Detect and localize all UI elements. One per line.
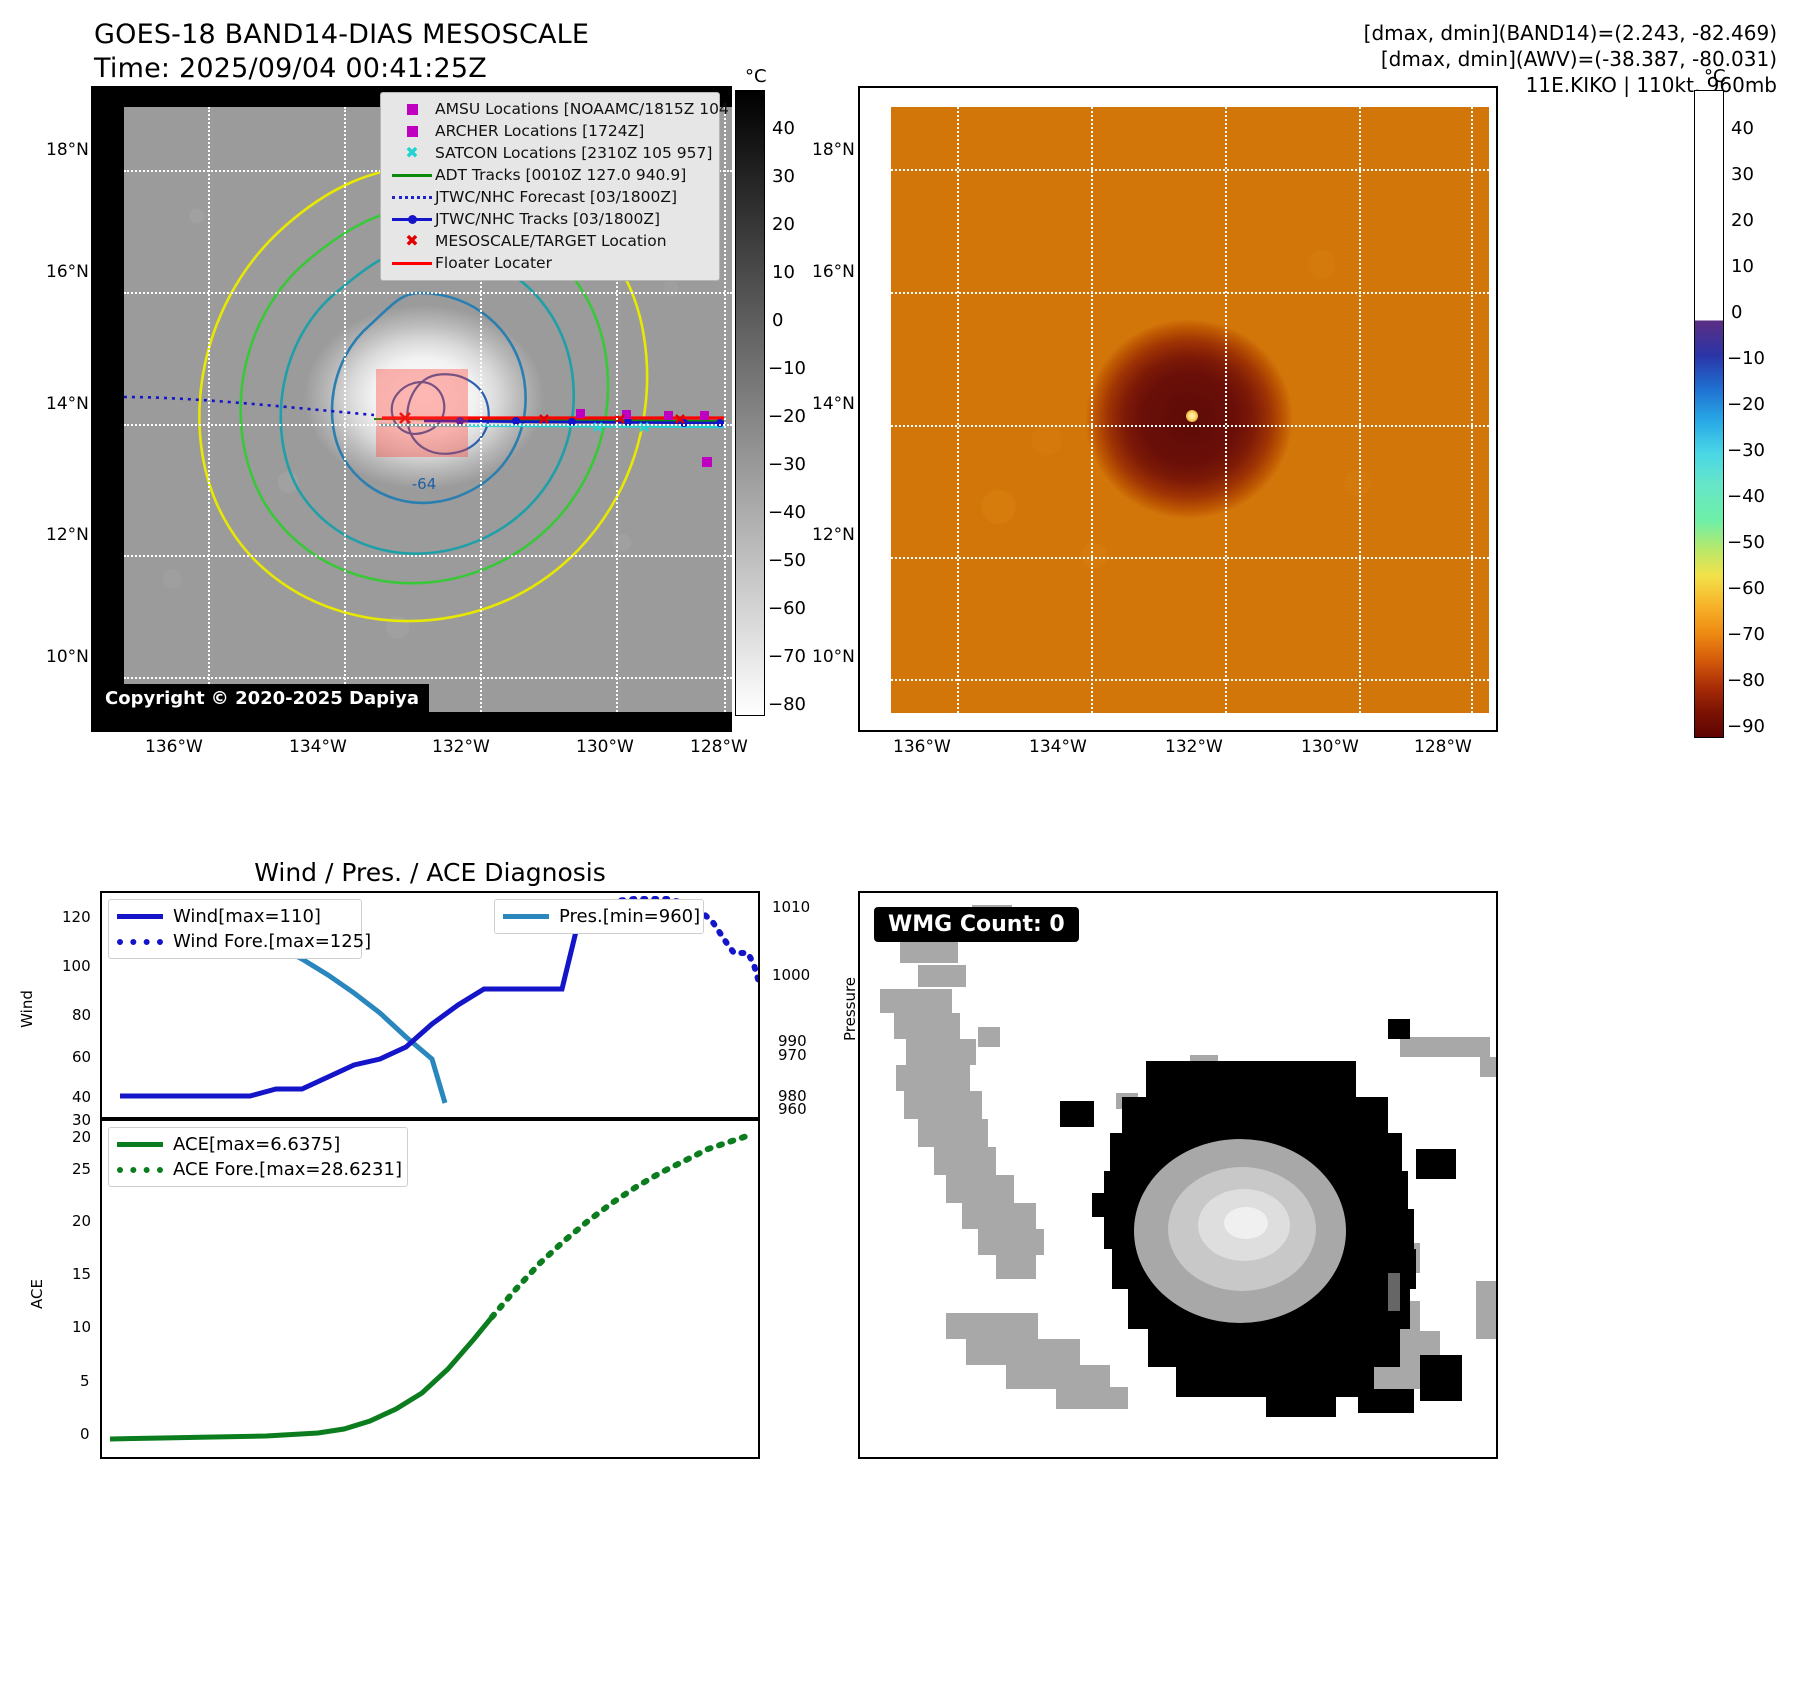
ace-chart[interactable]: ACE[max=6.6375] ACE Fore.[max=28.6231] — [100, 1119, 760, 1459]
awv-lat-tick: 16°N — [812, 262, 855, 282]
pressure-axis-label: Pressure — [841, 977, 859, 1041]
pressure-ytick: 1010 — [772, 898, 810, 916]
ir-colorbar-tick: 20 — [772, 214, 795, 235]
ir-colorbar-tick: 0 — [772, 310, 783, 331]
ace-ytick: 30 — [72, 1111, 91, 1129]
legend-item-adt: ADT Tracks [0010Z 127.0 940.9] — [389, 164, 711, 186]
awv-gridline-vertical — [1091, 107, 1093, 713]
wmg-mask — [860, 893, 1496, 1457]
ir-colorbar-tick: −30 — [768, 454, 806, 475]
awv-colorbar-tick: 0 — [1731, 302, 1742, 323]
ir-colorbar-tick: −20 — [768, 406, 806, 427]
ir-colorbar-tick: 30 — [772, 166, 795, 187]
legend-label: MESOSCALE/TARGET Location — [435, 232, 667, 250]
ace-ytick: 0 — [80, 1425, 90, 1443]
awv-gridline-horizontal — [891, 557, 1489, 559]
ir-lat-tick: 10°N — [46, 647, 89, 667]
storm-eye-marker — [1186, 410, 1198, 422]
title-line-1: GOES-18 BAND14-DIAS MESOSCALE — [94, 18, 589, 52]
awv-lon-tick: 130°W — [1301, 737, 1359, 757]
map-gridline-vertical — [208, 107, 210, 712]
ace-ytick: 20 — [72, 1212, 91, 1230]
ir-colorbar-tick: −50 — [768, 550, 806, 571]
teal-solid-line-icon — [503, 914, 559, 919]
map-gridline-vertical — [724, 107, 726, 712]
awv-colorbar-tick: −30 — [1727, 440, 1765, 461]
legend-label: Wind Fore.[max=125] — [173, 931, 371, 952]
ir-colorbar — [735, 90, 765, 716]
awv-gridline-vertical — [1471, 107, 1473, 713]
wind-ytick: 20 — [72, 1128, 91, 1146]
legend-label: ARCHER Locations [1724Z] — [435, 122, 644, 140]
awv-colorbar-tick: −10 — [1727, 348, 1765, 369]
awv-colorbar-tick: 30 — [1731, 164, 1754, 185]
svg-text:-64: -64 — [412, 475, 437, 493]
green-dotted-line-icon — [117, 1167, 173, 1173]
legend-item-ace: ACE[max=6.6375] — [117, 1132, 399, 1157]
ir-colorbar-tick: −80 — [768, 694, 806, 715]
awv-colorbar-unit: °C — [1704, 66, 1726, 87]
map-gridline-horizontal — [124, 555, 732, 557]
title-line-2: Time: 2025/09/04 00:41:25Z — [94, 52, 589, 86]
awv-colorbar-tick: −20 — [1727, 394, 1765, 415]
awv-gridline-horizontal — [891, 292, 1489, 294]
awv-colorbar-tick: −60 — [1727, 578, 1765, 599]
awv-imagery — [891, 107, 1489, 713]
awv-colorbar — [1694, 90, 1724, 738]
copyright-notice: Copyright © 2020-2025 Dapiya — [97, 684, 429, 714]
awv-gridline-vertical — [957, 107, 959, 713]
legend-label: AMSU Locations [NOAAMC/1815Z 104 973] — [435, 100, 732, 118]
ir-lon-tick: 132°W — [432, 737, 490, 757]
awv-lon-tick: 134°W — [1029, 737, 1087, 757]
legend-item-mesoscale: ✖ MESOSCALE/TARGET Location — [389, 230, 711, 252]
wmg-panel[interactable]: WMG Count: 0 — [858, 891, 1498, 1459]
legend-item-wind: Wind[max=110] — [117, 904, 353, 929]
purple-square-icon — [389, 104, 435, 115]
ir-colorbar-tick: −70 — [768, 646, 806, 667]
green-line-icon — [389, 174, 435, 177]
red-x-icon: ✖ — [389, 233, 435, 249]
legend-item-wind-forecast: Wind Fore.[max=125] — [117, 929, 353, 954]
ace-ytick: 25 — [72, 1160, 91, 1178]
legend-label: SATCON Locations [2310Z 105 957] — [435, 144, 712, 162]
ir-colorbar-tick: −10 — [768, 358, 806, 379]
wind-ytick: 100 — [62, 957, 91, 975]
legend-label: ACE Fore.[max=28.6231] — [173, 1159, 402, 1180]
diagnosis-title: Wind / Pres. / ACE Diagnosis — [0, 858, 860, 887]
green-solid-line-icon — [117, 1142, 173, 1147]
wind-ytick: 60 — [72, 1048, 91, 1066]
awv-lon-tick: 128°W — [1414, 737, 1472, 757]
ir-lon-tick: 136°W — [145, 737, 203, 757]
map-gridline-vertical — [344, 107, 346, 712]
legend-item-satcon: ✖ SATCON Locations [2310Z 105 957] — [389, 142, 711, 164]
map-gridline-horizontal — [124, 292, 732, 294]
dmax-dmin-band14: [dmax, dmin](BAND14)=(2.243, -82.469) — [1364, 20, 1777, 46]
awv-colorbar-tick: 20 — [1731, 210, 1754, 231]
wmg-count-badge: WMG Count: 0 — [874, 907, 1079, 942]
awv-lat-tick: 18°N — [812, 140, 855, 160]
ace-ytick: 15 — [72, 1265, 91, 1283]
awv-lat-tick: 12°N — [812, 525, 855, 545]
page-title: GOES-18 BAND14-DIAS MESOSCALE Time: 2025… — [94, 18, 589, 86]
legend-item-archer: ARCHER Locations [1724Z] — [389, 120, 711, 142]
pressure-legend: Pres.[min=960] — [494, 899, 704, 934]
ir-colorbar-tick: −60 — [768, 598, 806, 619]
ir-colorbar-tick: −40 — [768, 502, 806, 523]
legend-label: Floater Locater — [435, 254, 552, 272]
awv-lon-tick: 136°W — [893, 737, 951, 757]
purple-square-icon — [389, 126, 435, 137]
awv-lat-tick: 10°N — [812, 647, 855, 667]
legend-item-forecast: JTWC/NHC Forecast [03/1800Z] — [389, 186, 711, 208]
ir-lat-tick: 14°N — [46, 394, 89, 414]
ir-colorbar-tick: 40 — [772, 118, 795, 139]
awv-colorbar-tick: −70 — [1727, 624, 1765, 645]
wind-legend: Wind[max=110] Wind Fore.[max=125] — [108, 899, 362, 959]
pressure-ytick: 1000 — [772, 966, 810, 984]
legend-item-pressure: Pres.[min=960] — [503, 904, 695, 929]
ir-lat-tick: 18°N — [46, 140, 89, 160]
legend-item-tracks: JTWC/NHC Tracks [03/1800Z] — [389, 208, 711, 230]
ace-ytick: 5 — [80, 1372, 90, 1390]
wind-axis-label: Wind — [18, 990, 36, 1028]
wind-ytick: 40 — [72, 1088, 91, 1106]
awv-colorbar-tick: −80 — [1727, 670, 1765, 691]
red-line-icon — [389, 262, 435, 265]
map-gridline-horizontal — [124, 424, 732, 426]
ir-map-legend: AMSU Locations [NOAAMC/1815Z 104 973] AR… — [380, 92, 720, 281]
blue-dotted-line-icon — [389, 196, 435, 199]
awv-colorbar-tick: 10 — [1731, 256, 1754, 277]
ir-satellite-panel[interactable]: -64 AMSU Locations [NOAAMC/1815Z 104 973… — [91, 86, 732, 732]
cyan-x-icon: ✖ — [389, 145, 435, 161]
legend-label: JTWC/NHC Tracks [03/1800Z] — [435, 210, 660, 228]
awv-lon-tick: 132°W — [1165, 737, 1223, 757]
legend-label: Pres.[min=960] — [559, 906, 700, 927]
ir-lat-tick: 12°N — [46, 525, 89, 545]
blue-dotted-line-icon — [117, 939, 173, 945]
wind-ytick: 80 — [72, 1006, 91, 1024]
ace-legend: ACE[max=6.6375] ACE Fore.[max=28.6231] — [108, 1127, 408, 1187]
awv-colorbar-tick: −90 — [1727, 716, 1765, 737]
legend-item-ace-forecast: ACE Fore.[max=28.6231] — [117, 1157, 399, 1182]
awv-gridline-horizontal — [891, 425, 1489, 427]
legend-item-floater: Floater Locater — [389, 252, 711, 274]
map-gridline-horizontal — [124, 677, 732, 679]
ir-lat-tick: 16°N — [46, 262, 89, 282]
legend-item-amsu: AMSU Locations [NOAAMC/1815Z 104 973] — [389, 98, 711, 120]
legend-label: ADT Tracks [0010Z 127.0 940.9] — [435, 166, 686, 184]
wind-ytick: 120 — [62, 908, 91, 926]
wind-pressure-chart[interactable]: Wind[max=110] Wind Fore.[max=125] Pres.[… — [100, 891, 760, 1119]
awv-gridline-vertical — [1225, 107, 1227, 713]
awv-gridline-horizontal — [891, 679, 1489, 681]
awv-colorbar-tick: −50 — [1727, 532, 1765, 553]
ir-lon-tick: 128°W — [690, 737, 748, 757]
legend-label: Wind[max=110] — [173, 906, 321, 927]
awv-satellite-panel[interactable] — [858, 86, 1498, 732]
ace-ytick: 10 — [72, 1318, 91, 1336]
ace-axis-label: ACE — [28, 1279, 46, 1309]
ir-colorbar-tick: 10 — [772, 262, 795, 283]
ir-colorbar-unit: °C — [745, 66, 767, 87]
ir-lon-tick: 130°W — [576, 737, 634, 757]
legend-label: JTWC/NHC Forecast [03/1800Z] — [435, 188, 677, 206]
pressure-ytick-970v: 970 — [778, 1046, 807, 1064]
blue-line-marker-icon — [389, 218, 435, 221]
awv-gridline-vertical — [1359, 107, 1361, 713]
awv-lat-tick: 14°N — [812, 394, 855, 414]
legend-label: ACE[max=6.6375] — [173, 1134, 340, 1155]
ir-lon-tick: 134°W — [289, 737, 347, 757]
pressure-ytick-960v: 960 — [778, 1100, 807, 1118]
awv-gridline-horizontal — [891, 169, 1489, 171]
blue-solid-line-icon — [117, 914, 173, 919]
awv-colorbar-tick: 40 — [1731, 118, 1754, 139]
awv-colorbar-tick: −40 — [1727, 486, 1765, 507]
